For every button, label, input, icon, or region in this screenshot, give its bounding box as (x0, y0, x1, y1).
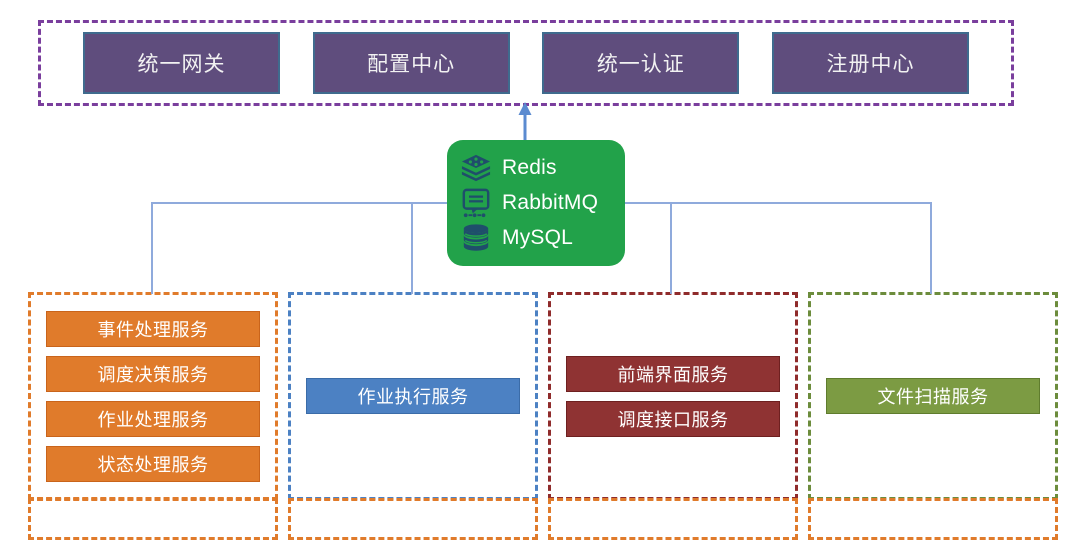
platform-box-gateway-label: 统一网关 (138, 48, 226, 78)
group-extend: 文件扫描服务 (808, 292, 1058, 500)
architecture-diagram: 统一网关 配置中心 统一认证 注册中心 (0, 0, 1080, 545)
connector-drop-web (670, 202, 672, 294)
layers-icon (461, 153, 491, 183)
service-box-job-processing-label: 作业处理服务 (98, 406, 209, 432)
footer-wrap-agent: AGENT (288, 498, 538, 540)
connector-drop-server (151, 202, 153, 294)
service-box-schedule-api-label: 调度接口服务 (618, 406, 729, 432)
service-box-state-processing-label: 状态处理服务 (98, 451, 209, 477)
platform-box-gateway[interactable]: 统一网关 (83, 32, 280, 94)
service-box-file-scan-label: 文件扫描服务 (878, 383, 989, 409)
service-box-job-execution[interactable]: 作业执行服务 (306, 378, 520, 414)
middleware-item-redis[interactable]: Redis (461, 151, 625, 185)
service-box-schedule-decision-label: 调度决策服务 (98, 361, 209, 387)
service-box-job-execution-label: 作业执行服务 (358, 383, 469, 409)
middleware-box[interactable]: Redis RabbitMQ (447, 140, 625, 266)
platform-box-row: 统一网关 配置中心 统一认证 注册中心 (38, 20, 1014, 106)
service-box-schedule-api[interactable]: 调度接口服务 (566, 401, 780, 437)
database-icon (461, 223, 491, 253)
connector-drop-agent (411, 202, 413, 294)
platform-box-auth-label: 统一认证 (597, 48, 685, 78)
group-agent: 作业执行服务 (288, 292, 538, 500)
platform-box-registry-label: 注册中心 (826, 48, 914, 78)
service-box-file-scan[interactable]: 文件扫描服务 (826, 378, 1040, 414)
platform-box-config-label: 配置中心 (367, 48, 455, 78)
message-queue-icon (461, 188, 491, 218)
service-box-job-processing[interactable]: 作业处理服务 (46, 401, 260, 437)
middleware-item-rabbitmq[interactable]: RabbitMQ (461, 186, 625, 220)
service-box-event-processing-label: 事件处理服务 (98, 316, 209, 342)
platform-box-config[interactable]: 配置中心 (313, 32, 510, 94)
service-box-frontend-ui-label: 前端界面服务 (618, 361, 729, 387)
footer-wrap-server: SERVER (28, 498, 278, 540)
service-box-schedule-decision[interactable]: 调度决策服务 (46, 356, 260, 392)
service-box-frontend-ui[interactable]: 前端界面服务 (566, 356, 780, 392)
service-box-state-processing[interactable]: 状态处理服务 (46, 446, 260, 482)
middleware-item-rabbitmq-label: RabbitMQ (502, 191, 598, 215)
middleware-item-mysql-label: MySQL (502, 226, 573, 250)
footer-wrap-extend: EXTEND (808, 498, 1058, 540)
platform-box-registry[interactable]: 注册中心 (772, 32, 969, 94)
group-web: 前端界面服务 调度接口服务 (548, 292, 798, 500)
middleware-item-mysql[interactable]: MySQL (461, 221, 625, 255)
connector-drop-extend (930, 202, 932, 294)
middleware-item-redis-label: Redis (502, 156, 557, 180)
service-box-event-processing[interactable]: 事件处理服务 (46, 311, 260, 347)
platform-box-auth[interactable]: 统一认证 (542, 32, 739, 94)
group-server: 事件处理服务 调度决策服务 作业处理服务 状态处理服务 (28, 292, 278, 500)
connector-arrow-to-platform (515, 100, 535, 144)
footer-wrap-web: WEB (548, 498, 798, 540)
